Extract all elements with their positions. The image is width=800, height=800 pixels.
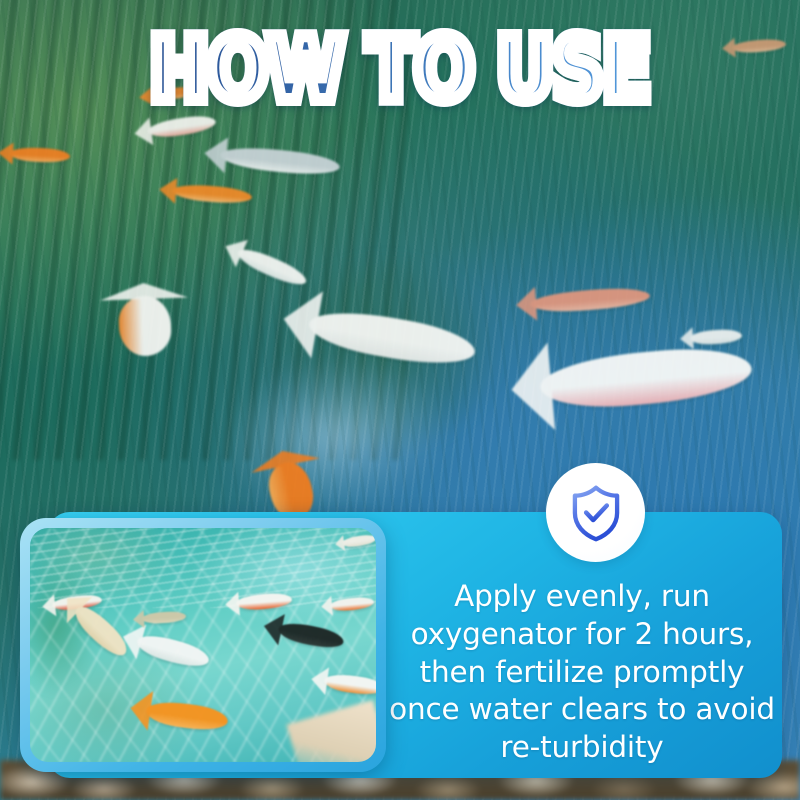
page-title-text: HOW TO USE — [150, 27, 650, 113]
koi-orange-2-tail — [0, 142, 14, 165]
inset-photo-image — [30, 528, 376, 762]
ifish-koi-red-white-1-tail — [38, 594, 56, 618]
koi-white-edge-13-tail — [676, 327, 693, 350]
instruction-text: Apply evenly, run oxygenator for 2 hours… — [382, 578, 782, 767]
koi-orange-faint-11-tail — [512, 287, 537, 323]
shield-check-icon — [566, 483, 626, 543]
inset-photo-card — [20, 518, 386, 772]
ifish-koi-edge-9-tail — [317, 596, 333, 617]
shield-check-badge — [546, 463, 645, 562]
page-title: HOW TO USE — [0, 34, 800, 107]
ifish-white-top-10-tail — [331, 535, 345, 553]
koi-orange-4-tail — [155, 176, 177, 204]
poster-root: HOW TO USE Apply evenly, run oxygenator … — [0, 0, 800, 800]
koi-white-pink-10-tail — [504, 342, 555, 433]
ifish-koi-white-7-tail — [306, 664, 329, 694]
koi-white-orange-7-tail — [99, 278, 188, 300]
ifish-tan-4-tail — [130, 610, 145, 629]
ifish-koi-orange-5-tail — [221, 591, 240, 616]
koi-silver-5-tail — [200, 135, 229, 173]
koi-white-red-3-tail — [130, 117, 154, 148]
